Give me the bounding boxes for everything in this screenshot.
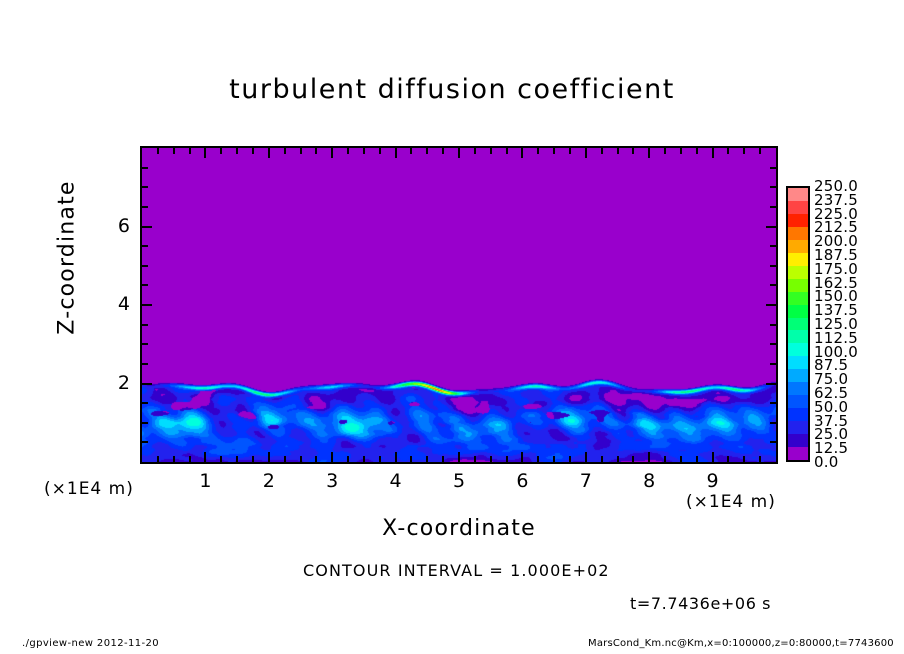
y-axis-tick [142, 363, 148, 365]
colorbar-band [788, 305, 808, 318]
y-axis-tick [142, 304, 152, 306]
x-axis-tick [632, 456, 634, 462]
x-tick-label: 9 [693, 470, 733, 492]
colorbar-band [788, 356, 808, 369]
x-axis-tick [490, 456, 492, 462]
x-axis-tick-top [284, 148, 286, 154]
x-axis-tick-top [268, 148, 270, 158]
x-axis-tick [617, 456, 619, 462]
x-axis-tick-top [712, 148, 714, 158]
y-axis-tick [142, 226, 152, 228]
x-axis-unit: (×1E4 m) [686, 492, 776, 512]
colorbar-band [788, 201, 808, 214]
y-axis-tick-right [770, 284, 776, 286]
y-axis-tick [142, 441, 148, 443]
colorbar-band [788, 188, 808, 201]
colorbar-band [788, 266, 808, 279]
x-axis-tick-top [759, 148, 761, 154]
colorbar-labels: 250.0237.5225.0212.5200.0187.5175.0162.5… [814, 186, 884, 462]
x-axis-tick [458, 452, 460, 462]
x-axis-tick [648, 452, 650, 462]
x-axis-tick-top [632, 148, 634, 154]
x-axis-tick [521, 452, 523, 462]
x-axis-tick [220, 456, 222, 462]
x-axis-tick-top [474, 148, 476, 154]
x-axis-tick-top [315, 148, 317, 154]
colorbar-band [788, 343, 808, 356]
y-tick-label: 4 [100, 293, 130, 315]
x-axis-tick-top [648, 148, 650, 158]
y-axis-tick-right [770, 324, 776, 326]
y-axis-tick [142, 383, 152, 385]
y-axis-tick-right [770, 402, 776, 404]
x-tick-label: 2 [249, 470, 289, 492]
y-axis-tick [142, 402, 148, 404]
y-axis-tick-right [770, 422, 776, 424]
time-annotation: t=7.7436e+06 s [630, 594, 771, 613]
page-title: turbulent diffusion coefficient [0, 74, 904, 105]
x-axis-tick-top [395, 148, 397, 158]
x-tick-label: 7 [566, 470, 606, 492]
x-tick-label: 8 [629, 470, 669, 492]
x-axis-tick-top [521, 148, 523, 158]
x-axis-tick [506, 456, 508, 462]
x-axis-tick [347, 456, 349, 462]
y-axis-tick-right [770, 363, 776, 365]
y-axis-unit: (×1E4 m) [44, 479, 134, 499]
colorbar-band [788, 395, 808, 408]
colorbar-band [788, 227, 808, 240]
y-tick-label: 2 [100, 372, 130, 394]
colorbar-band [788, 447, 808, 460]
footer-right-text: MarsCond_Km.nc@Km,x=0:100000,z=0:80000,t… [588, 638, 894, 649]
x-axis-tick-top [617, 148, 619, 154]
x-axis-tick-top [537, 148, 539, 154]
x-axis-tick-top [458, 148, 460, 158]
x-axis-tick [379, 456, 381, 462]
x-axis-tick-top [490, 148, 492, 154]
y-axis-tick-right [766, 226, 776, 228]
x-axis-tick-top [601, 148, 603, 154]
x-axis-tick-top [585, 148, 587, 158]
footer-left-text: ./gpview-new 2012-11-20 [22, 638, 159, 649]
colorbar-band [788, 330, 808, 343]
y-axis-tick [142, 284, 148, 286]
colorbar-tick-label: 0.0 [814, 455, 838, 470]
y-axis-tick [142, 206, 148, 208]
x-axis-tick [712, 452, 714, 462]
y-axis-tick-right [770, 167, 776, 169]
y-axis-tick [142, 343, 148, 345]
x-axis-tick-top [363, 148, 365, 154]
colorbar-band [788, 318, 808, 331]
x-axis-tick-top [379, 148, 381, 154]
x-axis-tick [331, 452, 333, 462]
y-axis-tick-right [770, 265, 776, 267]
x-axis-tick [680, 456, 682, 462]
x-axis-tick-top [569, 148, 571, 154]
x-axis-tick-top [157, 148, 159, 154]
y-axis-tick-right [770, 441, 776, 443]
x-axis-tick-top [426, 148, 428, 154]
x-axis-tick-top [442, 148, 444, 154]
x-axis-tick [664, 456, 666, 462]
x-axis-tick-top [173, 148, 175, 154]
colorbar [786, 186, 810, 462]
x-axis-tick [759, 456, 761, 462]
x-axis-tick [601, 456, 603, 462]
x-axis-tick-top [743, 148, 745, 154]
x-axis-tick [537, 456, 539, 462]
colorbar-band [788, 369, 808, 382]
x-axis-tick-top [220, 148, 222, 154]
colorbar-band [788, 421, 808, 434]
y-axis-tick [142, 167, 148, 169]
y-axis-tick-right [770, 186, 776, 188]
x-axis-tick [569, 456, 571, 462]
x-axis-tick [585, 452, 587, 462]
y-axis-tick-right [766, 383, 776, 385]
y-axis-tick-right [770, 206, 776, 208]
x-axis-tick [189, 456, 191, 462]
plot-area [140, 146, 778, 464]
y-axis-tick [142, 245, 148, 247]
x-axis-tick-top [189, 148, 191, 154]
x-axis-tick [157, 456, 159, 462]
x-axis-tick [426, 456, 428, 462]
x-axis-title: X-coordinate [140, 516, 778, 541]
x-axis-tick-top [204, 148, 206, 158]
x-axis-tick-top [236, 148, 238, 154]
x-axis-tick-top [331, 148, 333, 158]
colorbar-band [788, 408, 808, 421]
y-axis-tick-right [770, 245, 776, 247]
x-axis-tick [553, 456, 555, 462]
x-axis-tick [363, 456, 365, 462]
x-axis-tick [474, 456, 476, 462]
contour-interval-note: CONTOUR INTERVAL = 1.000E+02 [303, 561, 610, 580]
y-axis-title: Z-coordinate [55, 168, 80, 348]
y-axis-tick-right [766, 304, 776, 306]
x-axis-tick [204, 452, 206, 462]
colorbar-band [788, 434, 808, 447]
x-axis-tick-top [300, 148, 302, 154]
x-axis-tick [410, 456, 412, 462]
colorbar-band [788, 240, 808, 253]
x-tick-label: 3 [312, 470, 352, 492]
x-axis-tick [696, 456, 698, 462]
x-axis-tick-top [506, 148, 508, 154]
colorbar-band [788, 279, 808, 292]
x-axis-tick-top [410, 148, 412, 154]
colorbar-band [788, 214, 808, 227]
x-axis-tick [743, 456, 745, 462]
y-axis-tick [142, 422, 148, 424]
x-axis-tick [252, 456, 254, 462]
x-axis-tick-top [347, 148, 349, 154]
x-axis-tick [236, 456, 238, 462]
colorbar-band [788, 382, 808, 395]
x-axis-tick-top [727, 148, 729, 154]
x-tick-label: 1 [185, 470, 225, 492]
colorbar-band [788, 292, 808, 305]
x-axis-tick [300, 456, 302, 462]
x-axis-tick-top [553, 148, 555, 154]
y-tick-label: 6 [100, 215, 130, 237]
x-axis-tick [268, 452, 270, 462]
x-axis-tick-top [252, 148, 254, 154]
x-axis-tick [173, 456, 175, 462]
x-axis-tick [395, 452, 397, 462]
x-tick-label: 5 [439, 470, 479, 492]
y-axis-tick [142, 186, 148, 188]
x-tick-label: 6 [502, 470, 542, 492]
x-axis-tick [315, 456, 317, 462]
heatmap-field [142, 148, 776, 462]
colorbar-band [788, 253, 808, 266]
x-axis-tick-top [680, 148, 682, 154]
y-axis-tick [142, 324, 148, 326]
x-axis-tick [727, 456, 729, 462]
y-axis-tick [142, 265, 148, 267]
x-axis-tick [442, 456, 444, 462]
x-axis-tick [284, 456, 286, 462]
x-axis-tick-top [664, 148, 666, 154]
x-tick-label: 4 [376, 470, 416, 492]
y-axis-tick-right [770, 343, 776, 345]
x-axis-tick-top [696, 148, 698, 154]
